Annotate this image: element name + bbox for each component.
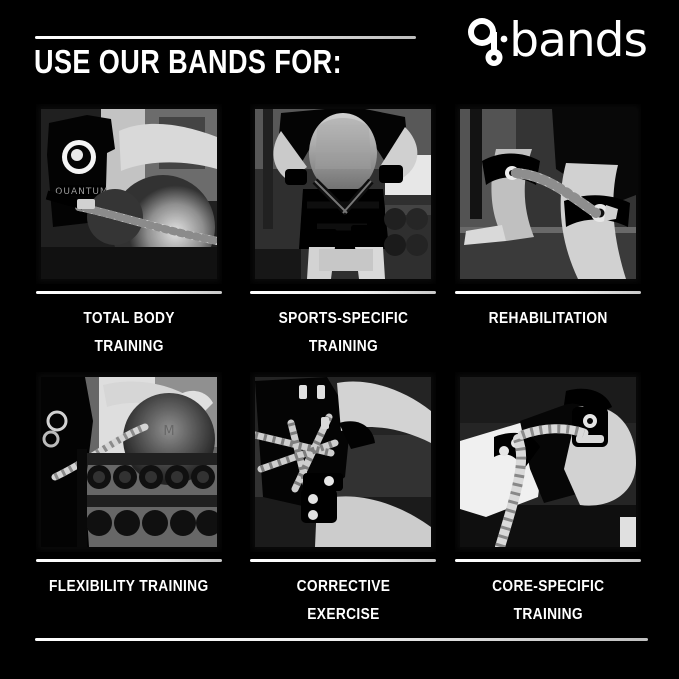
benefit-caption: TOTAL BODY TRAINING — [36, 305, 222, 361]
grid-row-2: M — [0, 372, 679, 640]
photo-sports-specific-training — [250, 104, 436, 284]
caption-divider — [455, 559, 641, 562]
benefits-grid: QUANTUM — [0, 104, 679, 640]
svg-text:M: M — [163, 424, 174, 439]
benefit-caption: CORRECTIVE EXERCISE — [250, 573, 436, 629]
page-title: USE OUR BANDS FOR: — [34, 45, 342, 80]
benefit-caption-text: CORE-SPECIFIC TRAINING — [492, 573, 604, 629]
benefit-caption: REHABILITATION — [455, 305, 641, 333]
benefit-caption: FLEXIBILITY TRAINING — [36, 573, 222, 601]
brand-logo: bands — [456, 14, 647, 72]
footer-divider — [35, 638, 648, 641]
benefit-caption-text: SPORTS-SPECIFIC TRAINING — [278, 305, 408, 361]
header: USE OUR BANDS FOR: bands — [0, 0, 679, 104]
benefit-card-sports-specific-training[interactable]: SPORTS-SPECIFIC TRAINING — [250, 104, 436, 361]
photo-rehabilitation — [455, 104, 641, 284]
benefit-caption: CORE-SPECIFIC TRAINING — [455, 573, 641, 629]
benefit-card-rehabilitation[interactable]: REHABILITATION — [455, 104, 641, 333]
caption-divider — [250, 291, 436, 294]
photo-corrective-exercise — [250, 372, 436, 552]
caption-divider — [250, 559, 436, 562]
benefit-caption-text: REHABILITATION — [489, 305, 608, 333]
caption-divider — [36, 291, 222, 294]
q-mark-icon — [456, 12, 508, 75]
grid-row-1: QUANTUM — [0, 104, 679, 372]
caption-divider — [455, 291, 641, 294]
benefit-caption: SPORTS-SPECIFIC TRAINING — [250, 305, 436, 361]
benefit-card-total-body-training[interactable]: QUANTUM — [36, 104, 222, 361]
poster-root: USE OUR BANDS FOR: bands — [0, 0, 679, 679]
benefit-caption-text: CORRECTIVE EXERCISE — [296, 573, 390, 629]
brand-wordmark: bands — [509, 17, 647, 64]
photo-flexibility-training: M — [36, 372, 222, 552]
benefit-caption-text: FLEXIBILITY TRAINING — [49, 573, 209, 601]
caption-divider — [36, 559, 222, 562]
benefit-card-flexibility-training[interactable]: M — [36, 372, 222, 601]
benefit-caption-text: TOTAL BODY TRAINING — [83, 305, 174, 361]
benefit-card-corrective-exercise[interactable]: CORRECTIVE EXERCISE — [250, 372, 436, 629]
benefit-card-core-specific-training[interactable]: CORE-SPECIFIC TRAINING — [455, 372, 641, 629]
header-divider — [35, 36, 416, 39]
photo-core-specific-training — [455, 372, 641, 552]
photo-total-body-training: QUANTUM — [36, 104, 222, 284]
